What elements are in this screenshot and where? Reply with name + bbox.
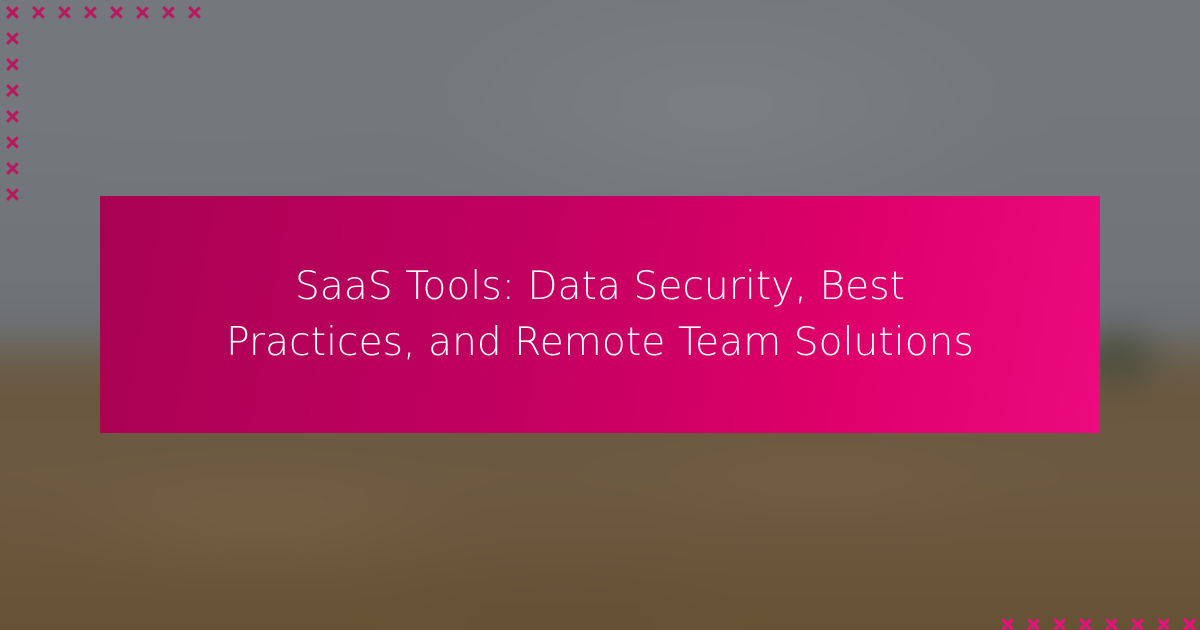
social-share-card: SaaS Tools: Data Security, Best Practice… — [0, 0, 1200, 630]
title-banner: SaaS Tools: Data Security, Best Practice… — [100, 196, 1100, 433]
page-title: SaaS Tools: Data Security, Best Practice… — [205, 259, 995, 370]
